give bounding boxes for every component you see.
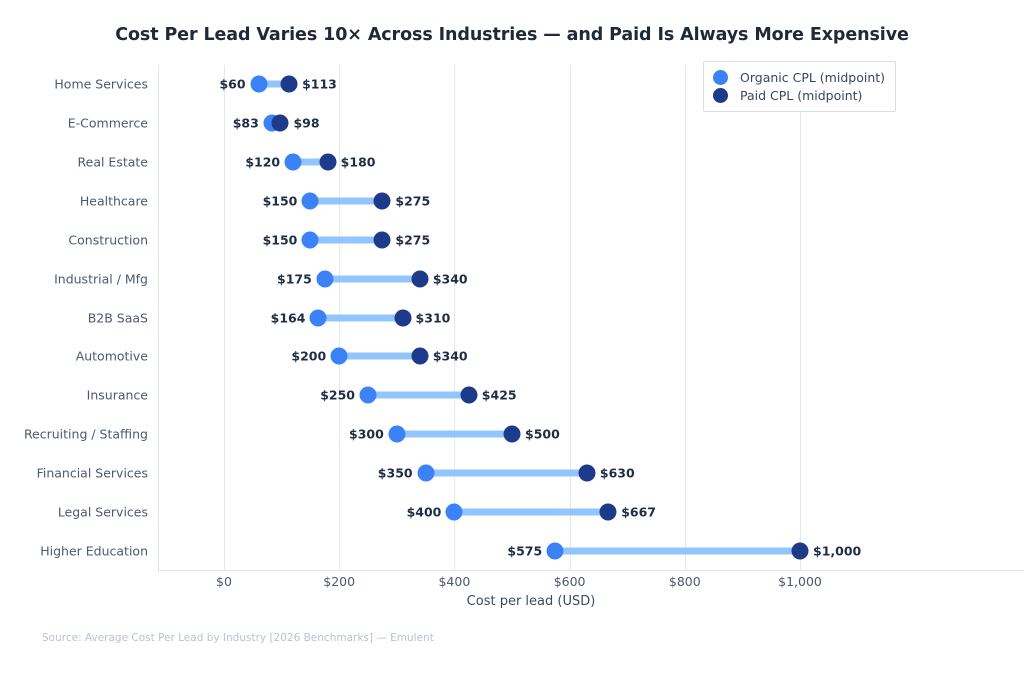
organic-cpl-marker[interactable] <box>446 503 463 520</box>
dumbbell-chart: Cost Per Lead Varies 10× Across Industri… <box>0 0 1024 676</box>
dumbbell-connector <box>339 353 420 360</box>
organic-value-label: $400 <box>407 504 442 519</box>
legend-item-paid[interactable]: Paid CPL (midpoint) <box>713 86 885 104</box>
gridline <box>800 65 801 570</box>
legend-swatch-organic-icon <box>713 70 728 85</box>
paid-cpl-marker[interactable] <box>319 154 336 171</box>
x-tick-label: $0 <box>179 574 269 589</box>
y-tick-label: Automotive <box>0 349 148 364</box>
organic-cpl-marker[interactable] <box>417 464 434 481</box>
paid-value-label: $1,000 <box>813 543 861 558</box>
x-tick-label: $200 <box>294 574 384 589</box>
paid-value-label: $500 <box>525 427 560 442</box>
dumbbell-connector <box>454 508 608 515</box>
dumbbell-connector <box>426 469 587 476</box>
organic-value-label: $350 <box>378 465 413 480</box>
organic-value-label: $120 <box>245 155 280 170</box>
organic-value-label: $300 <box>349 427 384 442</box>
organic-cpl-marker[interactable] <box>388 426 405 443</box>
y-tick-label: Insurance <box>0 388 148 403</box>
organic-cpl-marker[interactable] <box>331 348 348 365</box>
y-tick-label: E-Commerce <box>0 116 148 131</box>
paid-value-label: $340 <box>433 271 468 286</box>
organic-cpl-marker[interactable] <box>360 387 377 404</box>
x-tick-label: $600 <box>525 574 615 589</box>
organic-value-label: $200 <box>291 349 326 364</box>
organic-cpl-marker[interactable] <box>310 309 327 326</box>
x-axis-line <box>158 570 1024 571</box>
y-tick-label: Higher Education <box>0 543 148 558</box>
gridline <box>685 65 686 570</box>
paid-cpl-marker[interactable] <box>272 115 289 132</box>
y-tick-label: Construction <box>0 232 148 247</box>
paid-cpl-marker[interactable] <box>411 270 428 287</box>
paid-cpl-marker[interactable] <box>792 542 809 559</box>
y-tick-label: Real Estate <box>0 155 148 170</box>
organic-cpl-marker[interactable] <box>250 76 267 93</box>
paid-cpl-marker[interactable] <box>411 348 428 365</box>
gridline <box>224 65 225 570</box>
organic-cpl-marker[interactable] <box>302 231 319 248</box>
paid-value-label: $667 <box>621 504 656 519</box>
paid-value-label: $98 <box>293 116 319 131</box>
organic-value-label: $250 <box>320 388 355 403</box>
gridline <box>570 65 571 570</box>
organic-value-label: $575 <box>507 543 542 558</box>
dumbbell-connector <box>397 431 512 438</box>
organic-value-label: $175 <box>277 271 312 286</box>
organic-value-label: $83 <box>233 116 259 131</box>
dumbbell-connector <box>310 236 382 243</box>
y-tick-label: Financial Services <box>0 465 148 480</box>
chart-legend: Organic CPL (midpoint) Paid CPL (midpoin… <box>703 61 896 112</box>
x-tick-label: $1,000 <box>755 574 845 589</box>
paid-value-label: $113 <box>302 77 337 92</box>
paid-cpl-marker[interactable] <box>460 387 477 404</box>
organic-cpl-marker[interactable] <box>285 154 302 171</box>
y-tick-label: Home Services <box>0 77 148 92</box>
paid-cpl-marker[interactable] <box>374 231 391 248</box>
chart-title: Cost Per Lead Varies 10× Across Industri… <box>0 25 1024 45</box>
x-axis-label: Cost per lead (USD) <box>158 594 904 609</box>
paid-cpl-marker[interactable] <box>578 464 595 481</box>
y-tick-label: Legal Services <box>0 504 148 519</box>
dumbbell-connector <box>555 547 800 554</box>
chart-footnote: Source: Average Cost Per Lead by Industr… <box>42 632 434 644</box>
organic-value-label: $164 <box>271 310 306 325</box>
organic-value-label: $150 <box>263 193 298 208</box>
paid-value-label: $425 <box>482 388 517 403</box>
organic-cpl-marker[interactable] <box>302 192 319 209</box>
paid-value-label: $275 <box>395 232 430 247</box>
legend-swatch-paid-icon <box>713 88 728 103</box>
y-tick-label: Industrial / Mfg <box>0 271 148 286</box>
paid-cpl-marker[interactable] <box>281 76 298 93</box>
dumbbell-connector <box>310 197 382 204</box>
paid-value-label: $180 <box>341 155 376 170</box>
y-tick-label: Recruiting / Staffing <box>0 427 148 442</box>
legend-label-paid: Paid CPL (midpoint) <box>740 88 862 103</box>
organic-cpl-marker[interactable] <box>547 542 564 559</box>
paid-value-label: $310 <box>416 310 451 325</box>
dumbbell-connector <box>318 314 402 321</box>
y-tick-label: B2B SaaS <box>0 310 148 325</box>
dumbbell-connector <box>368 392 469 399</box>
y-tick-label: Healthcare <box>0 193 148 208</box>
organic-value-label: $150 <box>263 232 298 247</box>
x-tick-label: $400 <box>409 574 499 589</box>
paid-cpl-marker[interactable] <box>504 426 521 443</box>
legend-item-organic[interactable]: Organic CPL (midpoint) <box>713 68 885 86</box>
paid-value-label: $340 <box>433 349 468 364</box>
dumbbell-connector <box>325 275 420 282</box>
paid-value-label: $275 <box>395 193 430 208</box>
paid-value-label: $630 <box>600 465 635 480</box>
organic-cpl-marker[interactable] <box>316 270 333 287</box>
gridline <box>454 65 455 570</box>
paid-cpl-marker[interactable] <box>374 192 391 209</box>
paid-cpl-marker[interactable] <box>394 309 411 326</box>
paid-cpl-marker[interactable] <box>600 503 617 520</box>
organic-value-label: $60 <box>219 77 245 92</box>
x-tick-label: $800 <box>640 574 730 589</box>
legend-label-organic: Organic CPL (midpoint) <box>740 70 885 85</box>
